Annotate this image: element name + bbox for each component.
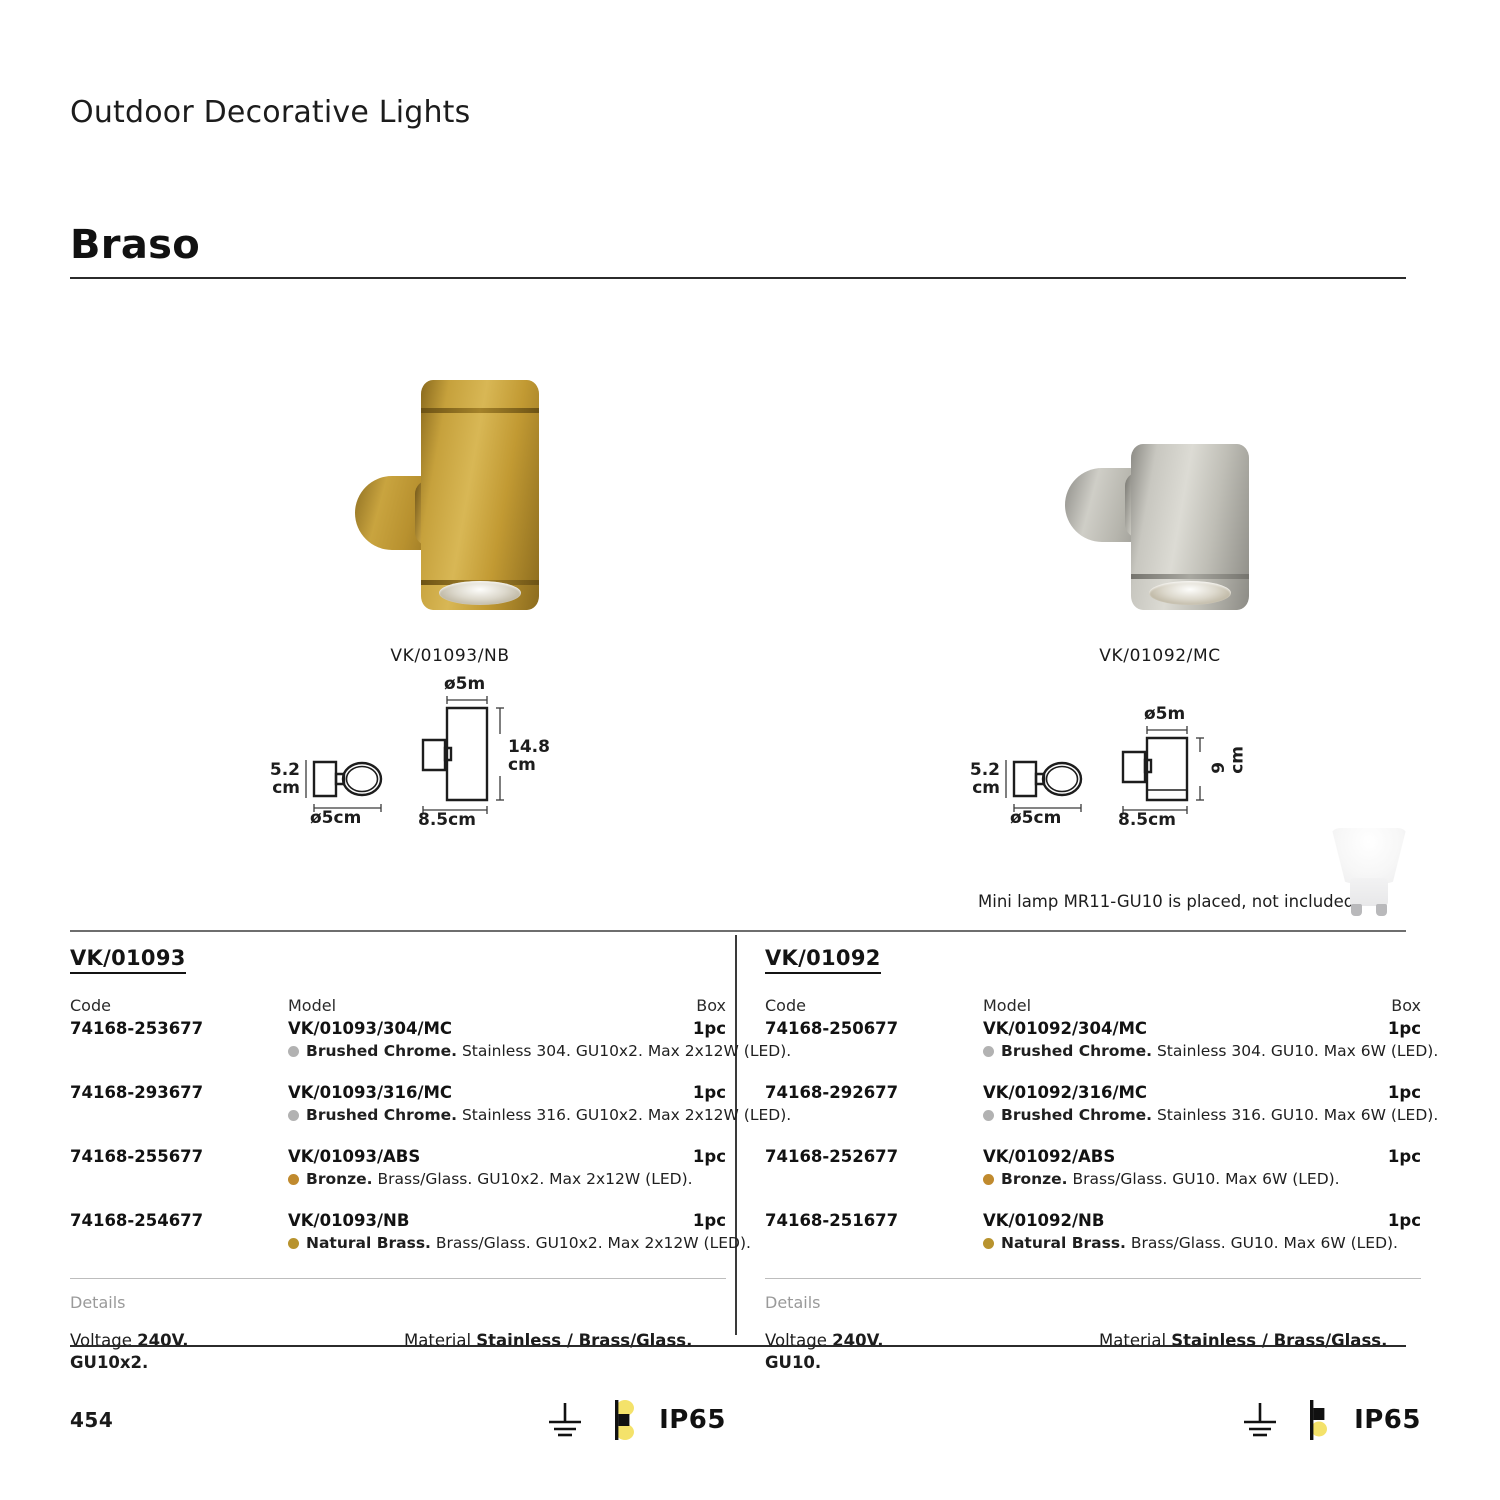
dim-label-side-depth-right: ø5cm bbox=[1010, 810, 1061, 828]
bulb-cone bbox=[1330, 828, 1408, 884]
row-finish-desc: Brass/Glass. GU10x2. Max 2x12W (LED). bbox=[373, 1170, 693, 1188]
material-label: Material bbox=[404, 1331, 476, 1350]
table-title-right[interactable]: VK/01092 bbox=[765, 946, 881, 974]
header-box: Box bbox=[670, 996, 726, 1015]
row-box: 1pc bbox=[1365, 1211, 1421, 1230]
column-divider bbox=[735, 935, 737, 1335]
product-image-01092 bbox=[900, 320, 1420, 610]
header-model: Model bbox=[288, 996, 670, 1015]
lamp-lens bbox=[1149, 581, 1231, 605]
row-box: 1pc bbox=[670, 1147, 726, 1166]
row-finish-name: Natural Brass. bbox=[1001, 1234, 1126, 1252]
title-divider bbox=[70, 277, 1406, 279]
table-header-row: Code Model Box bbox=[70, 996, 726, 1015]
bulb-neck bbox=[1350, 878, 1388, 906]
row-model: VK/01093/304/MC bbox=[288, 1019, 670, 1038]
row-finish-name: Bronze. bbox=[1001, 1170, 1068, 1188]
color-swatch-icon bbox=[288, 1046, 299, 1057]
row-code: 74168-255677 bbox=[70, 1147, 288, 1166]
material-value: Stainless / Brass/Glass. bbox=[476, 1331, 692, 1350]
dim-label-front-width-right: ø5m bbox=[1144, 706, 1185, 724]
dimension-drawing-left bbox=[262, 690, 542, 830]
color-swatch-icon bbox=[983, 1174, 994, 1185]
voltage-label: Voltage bbox=[70, 1331, 137, 1350]
row-code: 74168-254677 bbox=[70, 1211, 288, 1230]
product-caption-left: VK/01093/NB bbox=[190, 646, 710, 666]
ip-rating-right: IP65 bbox=[1354, 1405, 1421, 1435]
table-header-row: Code Model Box bbox=[765, 996, 1421, 1015]
row-finish-name: Bronze. bbox=[306, 1170, 373, 1188]
header-code: Code bbox=[70, 996, 288, 1015]
bulb-pin bbox=[1376, 904, 1387, 916]
table-row[interactable]: 74168-253677 VK/01093/304/MC 1pc Brushed… bbox=[70, 1019, 726, 1060]
dim-label-side-depth-left: ø5cm bbox=[310, 810, 361, 828]
product-photo-block-left: VK/01093/NB bbox=[190, 320, 710, 666]
dim-label-front-height-left: 14.8 cm bbox=[508, 738, 550, 775]
row-code: 74168-292677 bbox=[765, 1083, 983, 1102]
minilamp-note: Mini lamp MR11-GU10 is placed, not inclu… bbox=[978, 892, 1354, 911]
dim-label-front-depth-right: 8.5cm bbox=[1118, 812, 1176, 830]
dimension-diagram-01093: 5.2 cm ø5cm ø5m 8.5cm 14.8 cm bbox=[262, 690, 542, 834]
dim-label-front-height-right: 9 cm bbox=[1210, 746, 1247, 774]
color-swatch-icon bbox=[983, 1046, 994, 1057]
row-box: 1pc bbox=[670, 1211, 726, 1230]
voltage-label: Voltage bbox=[765, 1331, 832, 1350]
row-code: 74168-250677 bbox=[765, 1019, 983, 1038]
details-material: Material Stainless / Brass/Glass. bbox=[1099, 1330, 1421, 1374]
lamp-band-top bbox=[421, 408, 539, 413]
details-label: Details bbox=[765, 1293, 1421, 1312]
socket-value: GU10. bbox=[765, 1353, 821, 1372]
dimension-diagram-01092: 5.2 cm ø5cm ø5m 8.5cm 9 cm bbox=[962, 690, 1242, 834]
details-divider bbox=[70, 1278, 726, 1279]
row-box: 1pc bbox=[670, 1083, 726, 1102]
material-value: Stainless / Brass/Glass. bbox=[1171, 1331, 1387, 1350]
table-row[interactable]: 74168-293677 VK/01093/316/MC 1pc Brushed… bbox=[70, 1083, 726, 1124]
details-label: Details bbox=[70, 1293, 726, 1312]
header-box: Box bbox=[1365, 996, 1421, 1015]
table-row[interactable]: 74168-250677 VK/01092/304/MC 1pc Brushed… bbox=[765, 1019, 1421, 1060]
row-code: 74168-252677 bbox=[765, 1147, 983, 1166]
color-swatch-icon bbox=[983, 1238, 994, 1249]
lamp-illustration-chrome bbox=[1065, 380, 1255, 610]
page-number: 454 bbox=[70, 1408, 113, 1432]
page-title: Braso bbox=[70, 222, 200, 268]
header-code: Code bbox=[765, 996, 983, 1015]
spec-icons-right: IP65 bbox=[765, 1398, 1421, 1442]
row-code: 74168-253677 bbox=[70, 1019, 288, 1038]
row-finish-name: Brushed Chrome. bbox=[1001, 1106, 1152, 1124]
catalog-page: Outdoor Decorative Lights Braso VK/01093… bbox=[0, 0, 1500, 1500]
table-row[interactable]: 74168-292677 VK/01092/316/MC 1pc Brushed… bbox=[765, 1083, 1421, 1124]
row-box: 1pc bbox=[670, 1019, 726, 1038]
header-model: Model bbox=[983, 996, 1365, 1015]
color-swatch-icon bbox=[288, 1238, 299, 1249]
material-label: Material bbox=[1099, 1331, 1171, 1350]
voltage-value: 240V. bbox=[137, 1331, 188, 1350]
row-model: VK/01093/316/MC bbox=[288, 1083, 670, 1102]
lamp-band-bottom bbox=[1131, 574, 1249, 579]
product-photo-block-right: VK/01092/MC bbox=[900, 320, 1420, 666]
page-bottom-divider bbox=[70, 1345, 1406, 1347]
row-box: 1pc bbox=[1365, 1147, 1421, 1166]
row-box: 1pc bbox=[1365, 1019, 1421, 1038]
category-title: Outdoor Decorative Lights bbox=[70, 95, 470, 130]
product-caption-right: VK/01092/MC bbox=[900, 646, 1420, 666]
row-finish-desc: Brass/Glass. GU10x2. Max 2x12W (LED). bbox=[431, 1234, 751, 1252]
row-model: VK/01092/304/MC bbox=[983, 1019, 1365, 1038]
voltage-value: 240V. bbox=[832, 1331, 883, 1350]
row-finish-name: Natural Brass. bbox=[306, 1234, 431, 1252]
dim-label-side-height-right: 5.2 cm bbox=[960, 762, 1000, 798]
updown-light-icon bbox=[607, 1398, 641, 1442]
color-swatch-icon bbox=[983, 1110, 994, 1121]
row-finish-name: Brushed Chrome. bbox=[1001, 1042, 1152, 1060]
details-divider bbox=[765, 1278, 1421, 1279]
color-swatch-icon bbox=[288, 1174, 299, 1185]
row-finish-desc: Stainless 316. GU10x2. Max 2x12W (LED). bbox=[457, 1106, 791, 1124]
lamp-lens bbox=[439, 581, 521, 605]
dimension-drawing-right bbox=[962, 690, 1242, 830]
row-finish-name: Brushed Chrome. bbox=[306, 1106, 457, 1124]
row-model: VK/01093/ABS bbox=[288, 1147, 670, 1166]
color-swatch-icon bbox=[288, 1110, 299, 1121]
earth-ground-icon bbox=[541, 1399, 589, 1441]
socket-value: GU10x2. bbox=[70, 1353, 148, 1372]
earth-ground-icon bbox=[1236, 1399, 1284, 1441]
row-model: VK/01092/NB bbox=[983, 1211, 1365, 1230]
table-row[interactable]: 74168-254677 VK/01093/NB 1pc Natural Bra… bbox=[70, 1211, 726, 1252]
product-image-01093 bbox=[190, 320, 710, 610]
tables-top-divider bbox=[70, 930, 1406, 932]
row-finish-desc: Stainless 304. GU10. Max 6W (LED). bbox=[1152, 1042, 1438, 1060]
table-row[interactable]: 74168-251677 VK/01092/NB 1pc Natural Bra… bbox=[765, 1211, 1421, 1252]
row-finish-desc: Stainless 304. GU10x2. Max 2x12W (LED). bbox=[457, 1042, 791, 1060]
lamp-illustration-brass bbox=[355, 380, 545, 610]
row-model: VK/01092/316/MC bbox=[983, 1083, 1365, 1102]
table-row[interactable]: 74168-252677 VK/01092/ABS 1pc Bronze. Br… bbox=[765, 1147, 1421, 1188]
product-table-01092: VK/01092 Code Model Box 74168-250677 VK/… bbox=[765, 946, 1421, 1442]
row-finish-desc: Stainless 316. GU10. Max 6W (LED). bbox=[1152, 1106, 1438, 1124]
row-box: 1pc bbox=[1365, 1083, 1421, 1102]
row-code: 74168-251677 bbox=[765, 1211, 983, 1230]
details-electrical: Voltage 240V. GU10x2. bbox=[70, 1330, 404, 1374]
dim-label-side-height-left: 5.2 cm bbox=[260, 762, 300, 798]
ip-rating-left: IP65 bbox=[659, 1405, 726, 1435]
dim-label-front-depth-left: 8.5cm bbox=[418, 812, 476, 830]
lamp-barrel bbox=[421, 380, 539, 610]
row-finish-desc: Brass/Glass. GU10. Max 6W (LED). bbox=[1126, 1234, 1398, 1252]
table-title-left[interactable]: VK/01093 bbox=[70, 946, 186, 974]
bulb-pin bbox=[1351, 904, 1362, 916]
gu10-bulb-icon bbox=[1330, 828, 1408, 916]
table-row[interactable]: 74168-255677 VK/01093/ABS 1pc Bronze. Br… bbox=[70, 1147, 726, 1188]
spec-icons-left: IP65 bbox=[70, 1398, 726, 1442]
details-electrical: Voltage 240V. GU10. bbox=[765, 1330, 1099, 1374]
row-finish-desc: Brass/Glass. GU10. Max 6W (LED). bbox=[1068, 1170, 1340, 1188]
row-finish-name: Brushed Chrome. bbox=[306, 1042, 457, 1060]
row-model: VK/01092/ABS bbox=[983, 1147, 1365, 1166]
downlight-icon bbox=[1302, 1398, 1336, 1442]
row-model: VK/01093/NB bbox=[288, 1211, 670, 1230]
product-table-01093: VK/01093 Code Model Box 74168-253677 VK/… bbox=[70, 946, 726, 1442]
row-code: 74168-293677 bbox=[70, 1083, 288, 1102]
details-material: Material Stainless / Brass/Glass. bbox=[404, 1330, 726, 1374]
dim-label-front-width-left: ø5m bbox=[444, 676, 485, 694]
